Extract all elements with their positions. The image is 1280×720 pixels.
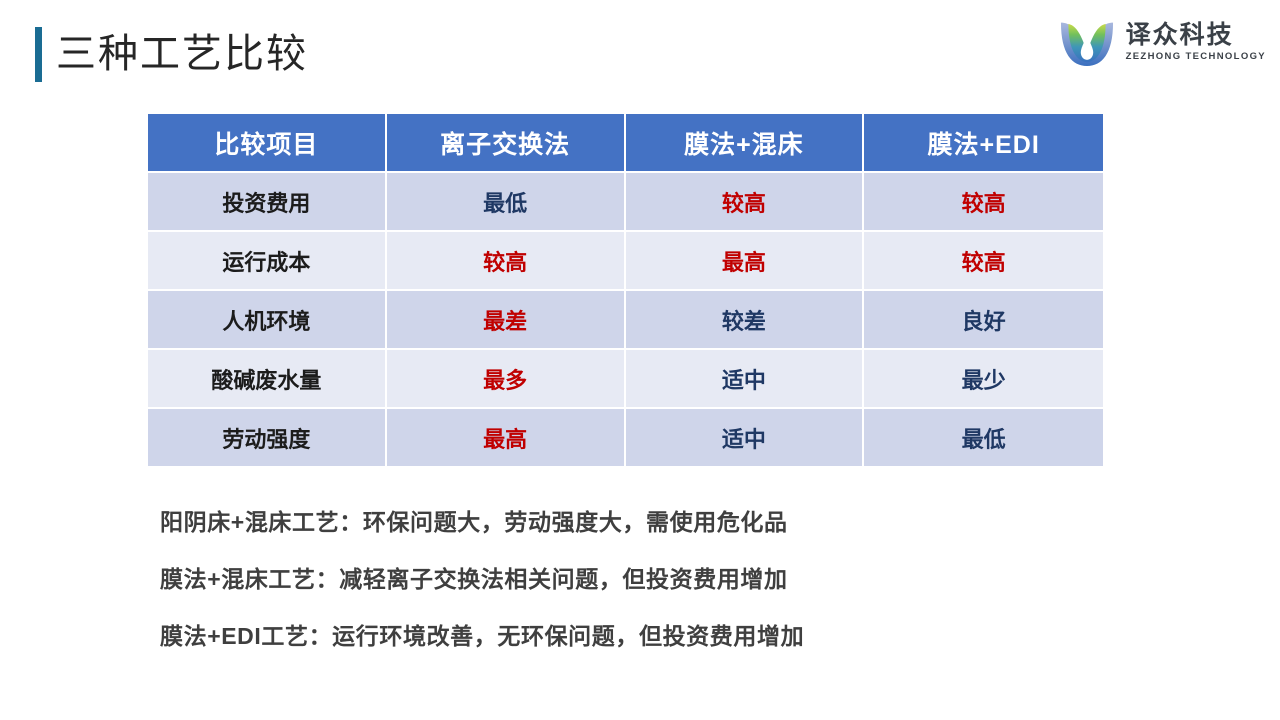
table-body: 投资费用 最低 较高 较高 运行成本 较高 最高 较高 人机环境 最差 较差 良… [148, 173, 1103, 468]
table-row: 运行成本 较高 最高 较高 [148, 232, 1103, 291]
cell-value: 最高 [387, 409, 626, 468]
cell-value: 适中 [626, 350, 865, 409]
table-row: 人机环境 最差 较差 良好 [148, 291, 1103, 350]
cell-value: 最低 [864, 409, 1103, 468]
cell-value: 适中 [626, 409, 865, 468]
slide-header: 三种工艺比较 [0, 0, 1280, 100]
table-row: 劳动强度 最高 适中 最低 [148, 409, 1103, 468]
cell-value: 最低 [387, 173, 626, 232]
note-line: 阳阴床+混床工艺：环保问题大，劳动强度大，需使用危化品 [160, 494, 1160, 551]
row-label: 人机环境 [148, 291, 387, 350]
summary-notes: 阳阴床+混床工艺：环保问题大，劳动强度大，需使用危化品 膜法+混床工艺：减轻离子… [160, 494, 1160, 665]
table-row: 酸碱废水量 最多 适中 最少 [148, 350, 1103, 409]
row-label: 酸碱废水量 [148, 350, 387, 409]
cell-value: 较差 [626, 291, 865, 350]
cell-value: 最少 [864, 350, 1103, 409]
table-header-row: 比较项目 离子交换法 膜法+混床 膜法+EDI [148, 114, 1103, 173]
cell-value: 良好 [864, 291, 1103, 350]
cell-value: 最高 [626, 232, 865, 291]
cell-value: 较高 [626, 173, 865, 232]
process-comparison-table: 比较项目 离子交换法 膜法+混床 膜法+EDI 投资费用 最低 较高 较高 运行… [148, 114, 1103, 468]
company-logo: 译众科技 ZEZHONG TECHNOLOGY [1056, 9, 1266, 71]
page-title: 三种工艺比较 [56, 26, 308, 82]
logo-name-en: ZEZHONG TECHNOLOGY [1126, 50, 1266, 64]
leaf-waterdrop-icon [1056, 9, 1118, 71]
cell-value: 最多 [387, 350, 626, 409]
cell-value: 较高 [387, 232, 626, 291]
column-header-membrane-edi: 膜法+EDI [864, 114, 1103, 173]
cell-value: 最差 [387, 291, 626, 350]
row-label: 劳动强度 [148, 409, 387, 468]
logo-text: 译众科技 ZEZHONG TECHNOLOGY [1126, 17, 1266, 64]
cell-value: 较高 [864, 173, 1103, 232]
note-line: 膜法+混床工艺：减轻离子交换法相关问题，但投资费用增加 [160, 551, 1160, 608]
column-header-ion-exchange: 离子交换法 [387, 114, 626, 173]
logo-name-cn: 译众科技 [1126, 21, 1266, 50]
row-label: 投资费用 [148, 173, 387, 232]
note-line: 膜法+EDI工艺：运行环境改善，无环保问题，但投资费用增加 [160, 608, 1160, 665]
row-label: 运行成本 [148, 232, 387, 291]
cell-value: 较高 [864, 232, 1103, 291]
column-header-criteria: 比较项目 [148, 114, 387, 173]
column-header-membrane-mixedbed: 膜法+混床 [626, 114, 865, 173]
title-accent-bar [35, 27, 42, 82]
table-header: 比较项目 离子交换法 膜法+混床 膜法+EDI [148, 114, 1103, 173]
table-row: 投资费用 最低 较高 较高 [148, 173, 1103, 232]
